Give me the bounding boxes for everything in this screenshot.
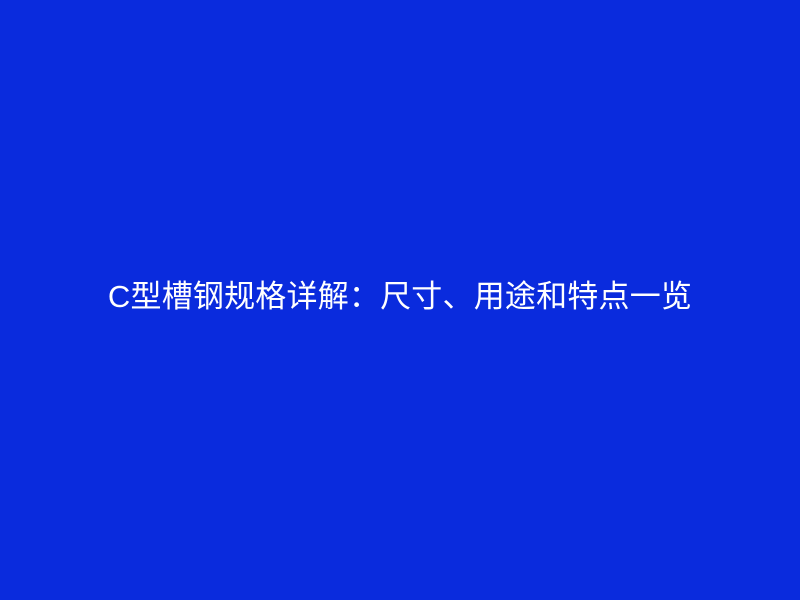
banner-canvas: C型槽钢规格详解：尺寸、用途和特点一览 bbox=[0, 0, 800, 600]
page-title: C型槽钢规格详解：尺寸、用途和特点一览 bbox=[92, 278, 708, 315]
title-container: C型槽钢规格详解：尺寸、用途和特点一览 bbox=[0, 274, 800, 320]
